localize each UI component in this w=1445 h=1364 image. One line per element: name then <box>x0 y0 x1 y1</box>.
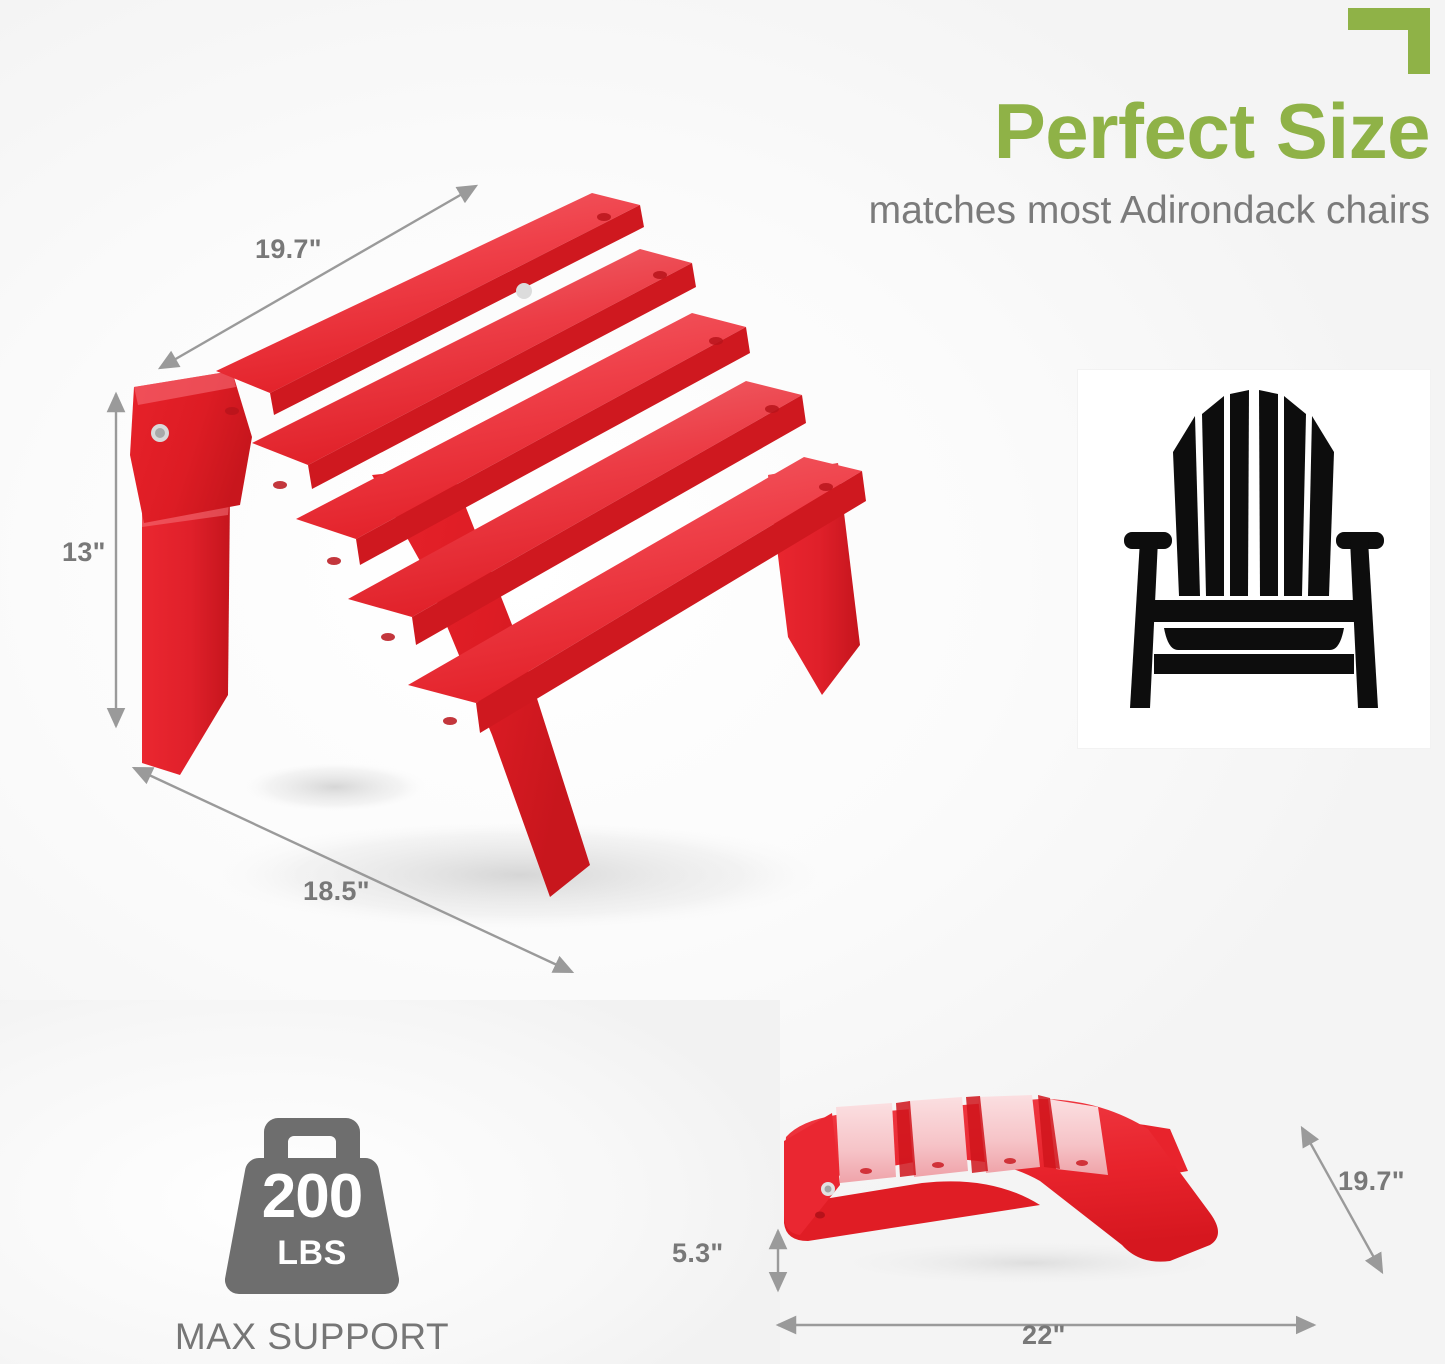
adirondack-chair-card <box>1078 370 1430 748</box>
weight-unit: LBS <box>207 1236 417 1270</box>
ottoman-leg-left <box>142 493 230 775</box>
ottoman-side-rail-left <box>130 371 252 523</box>
corner-bracket-accent-icon <box>1348 8 1430 74</box>
page-title: Perfect Size <box>700 92 1430 172</box>
product-infographic-canvas: Perfect Size matches most Adirondack cha… <box>0 0 1445 1364</box>
folded-ottoman-product-image <box>740 1085 1300 1300</box>
weight-number: 200 <box>207 1166 417 1228</box>
max-support-caption: MAX SUPPORT <box>142 1316 482 1358</box>
dimension-label-hero-height: 13" <box>62 537 106 568</box>
dimension-label-folded-width: 19.7" <box>1338 1166 1405 1197</box>
hero-ottoman-product-image <box>120 175 950 965</box>
weight-plate-icon-wrap: 200 LBS <box>207 1110 417 1302</box>
ottoman-slats <box>216 193 866 733</box>
dimension-label-hero-width: 19.7" <box>255 234 322 265</box>
adirondack-chair-silhouette-icon <box>1078 370 1430 748</box>
dimension-label-hero-depth: 18.5" <box>303 876 370 907</box>
dimension-label-folded-thickness: 5.3" <box>672 1238 724 1269</box>
dimension-label-folded-length: 22" <box>1022 1320 1066 1351</box>
max-support-badge: 200 LBS MAX SUPPORT <box>142 1110 482 1358</box>
